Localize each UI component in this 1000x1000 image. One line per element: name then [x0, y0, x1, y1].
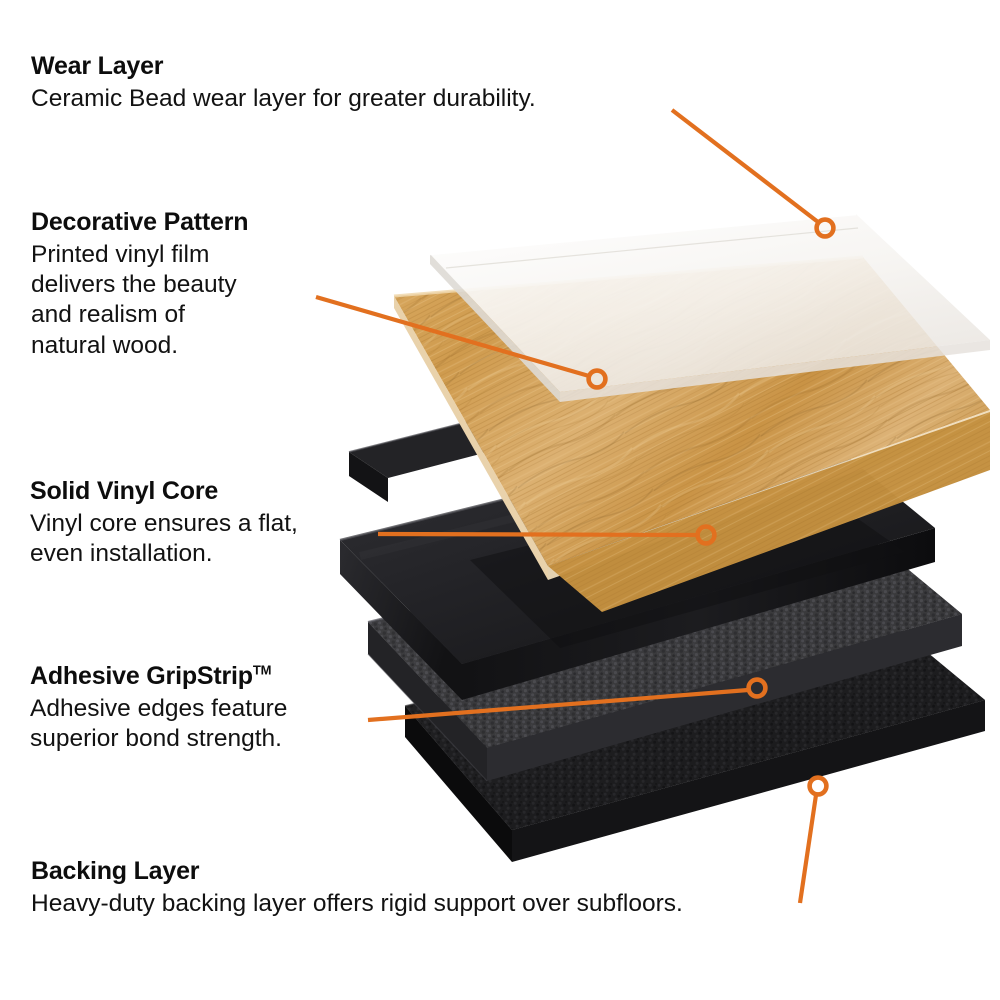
callout-solid-vinyl-core: Solid Vinyl Core Vinyl core ensures a fl…: [30, 477, 400, 569]
callout-body-wear-layer: Ceramic Bead wear layer for greater dura…: [31, 84, 711, 114]
marker-ring-solid-vinyl-core: [698, 527, 715, 544]
marker-ring-wear-layer: [817, 220, 834, 237]
layer-wear: [430, 214, 990, 402]
diagram-canvas: Wear Layer Ceramic Bead wear layer for g…: [0, 0, 1000, 1000]
callout-wear-layer: Wear Layer Ceramic Bead wear layer for g…: [31, 52, 711, 114]
callout-title-backing-layer: Backing Layer: [31, 857, 931, 887]
callout-body-line: and realism of: [31, 300, 321, 330]
callout-body-line: superior bond strength.: [30, 724, 390, 754]
layer-decorative-pattern: [394, 257, 990, 612]
callout-body-backing-layer: Heavy-duty backing layer offers rigid su…: [31, 889, 931, 919]
layer-vinyl-core: [340, 424, 935, 700]
callout-body-line: even installation.: [30, 539, 400, 569]
marker-ring-decorative-pattern: [589, 371, 606, 388]
layer-backing: [405, 595, 985, 862]
callout-body-solid-vinyl-core: Vinyl core ensures a flat, even installa…: [30, 509, 400, 570]
callout-body-decorative-pattern: Printed vinyl film delivers the beauty a…: [31, 240, 321, 362]
marker-ring-adhesive-gripstrip: [749, 680, 766, 697]
callout-title-wear-layer: Wear Layer: [31, 52, 711, 82]
leader-decorative-pattern: [316, 297, 605, 387]
leader-wear-layer: [672, 110, 833, 236]
callout-body-adhesive-gripstrip: Adhesive edges feature superior bond str…: [30, 694, 390, 755]
callout-title-adhesive-gripstrip: Adhesive GripStripTM: [30, 662, 390, 692]
layer-decorative-lower-panel: [470, 360, 1000, 612]
callout-body-line: delivers the beauty: [31, 270, 321, 300]
trademark-superscript: TM: [253, 663, 271, 678]
callout-backing-layer: Backing Layer Heavy-duty backing layer o…: [31, 857, 931, 919]
leader-solid-vinyl-core: [378, 527, 714, 544]
callout-body-line: Vinyl core ensures a flat,: [30, 509, 400, 539]
callout-title-text: Adhesive GripStrip: [30, 662, 253, 690]
layer-core-upper-sliver: [349, 336, 842, 502]
marker-ring-backing-layer: [810, 778, 827, 795]
callout-decorative-pattern: Decorative Pattern Printed vinyl film de…: [31, 208, 321, 361]
callout-adhesive-gripstrip: Adhesive GripStripTM Adhesive edges feat…: [30, 662, 390, 754]
layer-gripstrip: [368, 508, 962, 781]
callout-body-line: Printed vinyl film: [31, 240, 321, 270]
callout-title-decorative-pattern: Decorative Pattern: [31, 208, 321, 238]
leader-adhesive-gripstrip: [368, 680, 765, 720]
callout-title-solid-vinyl-core: Solid Vinyl Core: [30, 477, 400, 507]
callout-body-line: natural wood.: [31, 331, 321, 361]
callout-body-line: Adhesive edges feature: [30, 694, 390, 724]
